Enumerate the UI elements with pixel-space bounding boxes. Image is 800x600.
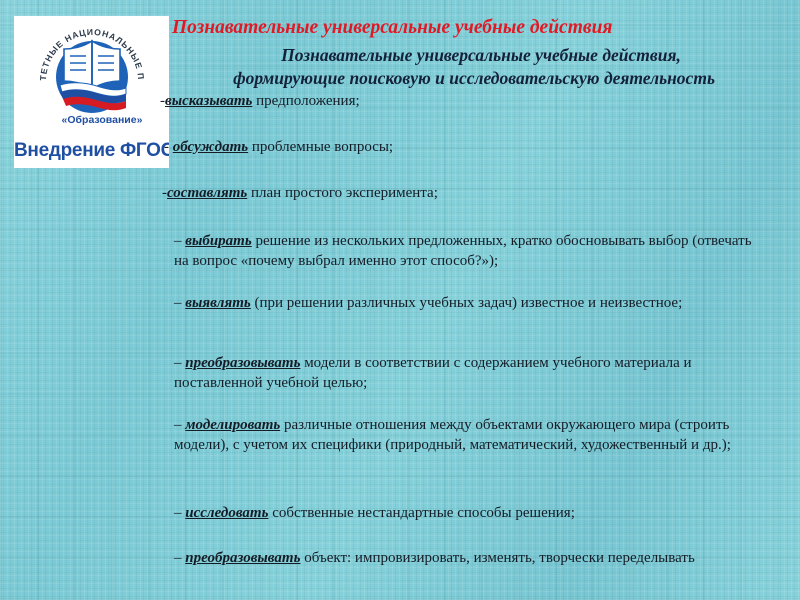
bullet-text: план простого эксперимента;: [247, 185, 438, 201]
national-projects-logo: ПРИОРИТЕТНЫЕ НАЦИОНАЛЬНЫЕ ПРОЕКТЫ: [14, 16, 169, 168]
bullet-marker: –: [174, 355, 185, 371]
bullet-marker: –: [174, 295, 185, 311]
list-item: -составлять план простого эксперимента;: [162, 184, 774, 204]
list-item: – моделировать различные отношения между…: [174, 416, 774, 455]
bullet-marker: –: [174, 233, 185, 249]
education-emblem-icon: ПРИОРИТЕТНЫЕ НАЦИОНАЛЬНЫЕ ПРОЕКТЫ: [30, 19, 154, 131]
bullet-keyword: составлять: [167, 185, 247, 201]
bullet-text: объект: импровизировать, изменять, творч…: [300, 550, 694, 566]
logo-program-name: «Образование»: [61, 114, 142, 126]
slide-subtitle-line-2: формирующие поисковую и исследовательску…: [172, 67, 772, 90]
bullet-keyword: выбирать: [185, 233, 251, 249]
bullet-text: собственные нестандартные способы решени…: [268, 505, 574, 521]
list-item: – преобразовывать объект: импровизироват…: [174, 549, 764, 569]
slide-subtitle-line-1: Познавательные универсальные учебные дей…: [172, 44, 772, 67]
bullet-keyword: выявлять: [185, 295, 251, 311]
bullet-text: (при решении различных учебных задач) из…: [251, 295, 683, 311]
bullet-text: решение из нескольких предложенных, крат…: [174, 233, 752, 269]
bullet-keyword: высказывать: [165, 93, 252, 109]
list-item: - обсуждать проблемные вопросы;: [164, 138, 776, 158]
slide-subtitle: Познавательные универсальные учебные дей…: [172, 44, 772, 90]
list-item: -высказывать предположения;: [160, 92, 772, 112]
bullet-text: предположения;: [252, 93, 359, 109]
logo-caption: Внедрение ФГОС: [14, 140, 169, 162]
presentation-slide: ПРИОРИТЕТНЫЕ НАЦИОНАЛЬНЫЕ ПРОЕКТЫ: [0, 0, 800, 600]
bullet-keyword: моделировать: [185, 417, 280, 433]
bullet-marker: –: [174, 550, 185, 566]
bullet-keyword: преобразовывать: [185, 355, 300, 371]
bullet-keyword: обсуждать: [173, 139, 248, 155]
bullet-marker: –: [174, 417, 185, 433]
bullet-marker: -: [164, 139, 173, 155]
bullet-keyword: исследовать: [185, 505, 268, 521]
bullet-text: проблемные вопросы;: [248, 139, 393, 155]
slide-title: Познавательные универсальные учебные дей…: [172, 17, 772, 38]
list-item: – выбирать решение из нескольких предлож…: [174, 232, 764, 271]
list-item: – исследовать собственные нестандартные …: [174, 504, 764, 524]
list-item: – преобразовывать модели в соответствии …: [174, 354, 764, 393]
list-item: – выявлять (при решении различных учебны…: [174, 294, 764, 314]
bullet-marker: –: [174, 505, 185, 521]
bullet-keyword: преобразовывать: [185, 550, 300, 566]
